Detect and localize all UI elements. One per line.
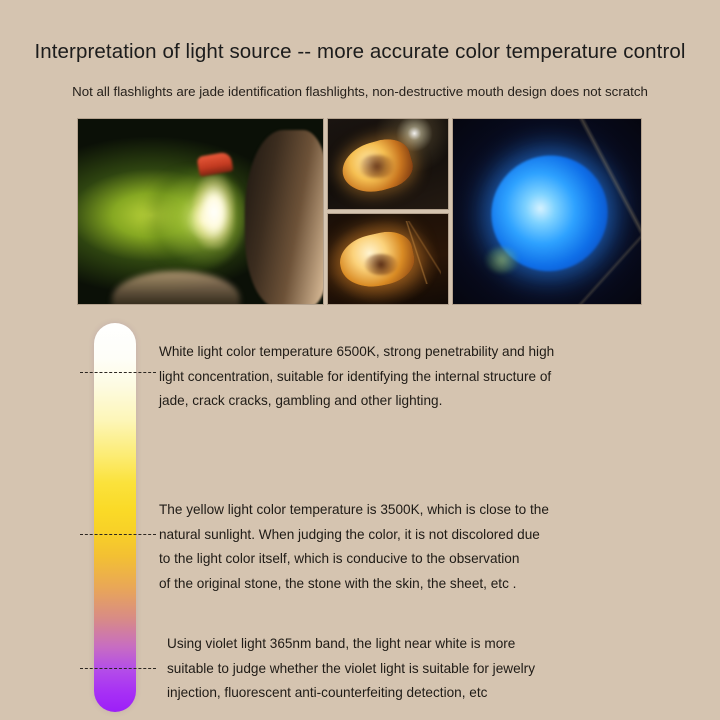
page-title: Interpretation of light source -- more a…	[0, 40, 720, 64]
uv-fluorescence-photo	[453, 119, 641, 304]
note-line: The yellow light color temperature is 35…	[159, 498, 589, 523]
note-line: natural sunlight. When judging the color…	[159, 523, 589, 548]
page-subtitle: Not all flashlights are jade identificat…	[0, 84, 720, 99]
note-line: Using violet light 365nm band, the light…	[167, 632, 597, 657]
white-light-marker	[80, 372, 156, 373]
yellow-light-note: The yellow light color temperature is 35…	[159, 498, 589, 596]
note-line: injection, fluorescent anti-counterfeiti…	[167, 681, 597, 706]
note-line: light concentration, suitable for identi…	[159, 365, 589, 390]
yellow-light-marker	[80, 534, 156, 535]
photo-strip	[78, 119, 656, 304]
violet-light-marker	[80, 668, 156, 669]
background-marks	[453, 119, 641, 304]
thumb-shape	[245, 130, 323, 304]
note-line: of the original stone, the stone with th…	[159, 572, 589, 597]
background-streaks	[395, 221, 441, 284]
jade-white-beam-photo	[78, 119, 323, 304]
white-beam-glow	[193, 175, 235, 249]
amber-stone-top-photo	[328, 119, 448, 209]
white-light-note: White light color temperature 6500K, str…	[159, 340, 589, 414]
amber-stone-bottom-photo	[328, 214, 448, 304]
note-line: to the light color itself, which is cond…	[159, 547, 589, 572]
stone-vein-detail	[359, 155, 395, 178]
color-temperature-gradient-bar	[94, 323, 136, 712]
note-line: White light color temperature 6500K, str…	[159, 340, 589, 365]
violet-light-note: Using violet light 365nm band, the light…	[167, 632, 597, 706]
note-line: jade, crack cracks, gambling and other l…	[159, 389, 589, 414]
note-line: suitable to judge whether the violet lig…	[167, 657, 597, 682]
stone-vein-detail	[364, 254, 398, 276]
amber-stone-photo-pair	[328, 119, 448, 304]
